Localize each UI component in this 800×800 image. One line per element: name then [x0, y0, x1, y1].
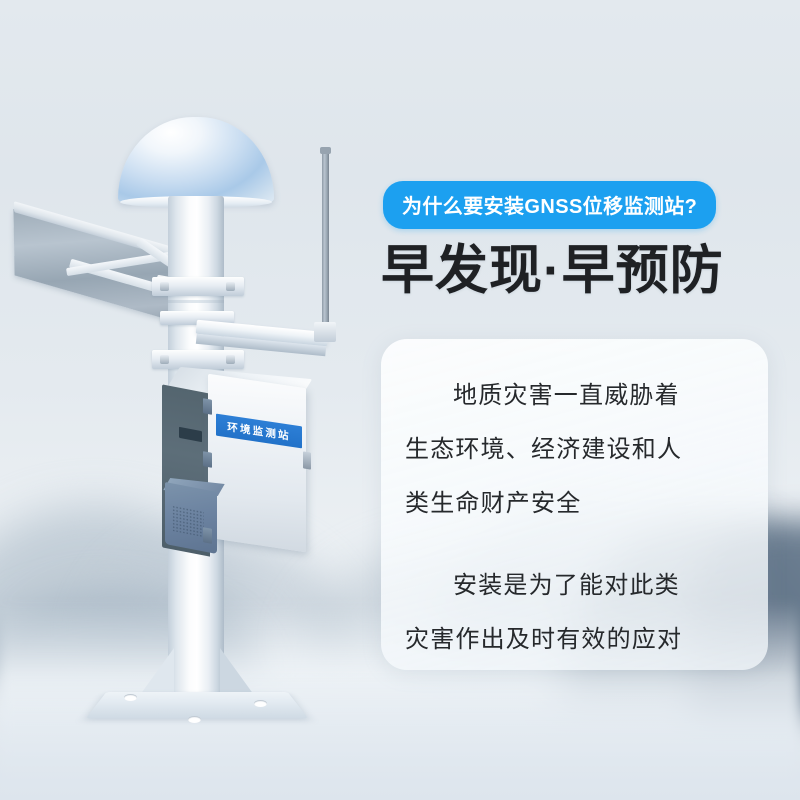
- base-bolt-hole: [254, 700, 267, 707]
- base-bolt-hole: [188, 716, 201, 723]
- clamp-bolt: [160, 282, 169, 291]
- question-badge: 为什么要安装GNSS位移监测站?: [383, 181, 716, 229]
- clamp-bolt: [226, 355, 235, 364]
- cabinet-front-face: [208, 374, 306, 553]
- body-line: 灾害作出及时有效的应对: [405, 613, 744, 667]
- poster-root: 环境监测站 为什么要安装GNSS位移监测站? 早发现·早预防 地质灾害一直威胁着…: [0, 0, 800, 800]
- lightning-rod-cap: [320, 147, 331, 154]
- pole-clamp: [152, 277, 244, 296]
- page-title: 早发现·早预防: [381, 228, 724, 304]
- description-card: 地质灾害一直威胁着 生态环境、经济建设和人 类生命财产安全 安装是为了能对此类 …: [381, 339, 768, 670]
- body-line: 地质灾害一直威胁着: [405, 369, 744, 423]
- paragraph-purpose: 安装是为了能对此类 灾害作出及时有效的应对: [405, 559, 744, 667]
- cabinet-hinge: [203, 451, 212, 468]
- paragraph-threat: 地质灾害一直威胁着 生态环境、经济建设和人 类生命财产安全: [405, 369, 744, 531]
- body-line: 生态环境、经济建设和人: [405, 423, 744, 477]
- rod-mount-clamp: [314, 322, 336, 342]
- base-plate: [86, 692, 309, 719]
- pole-clamp: [152, 350, 244, 369]
- monitoring-station-illustration: 环境监测站: [0, 0, 400, 800]
- cabinet-hinge: [203, 398, 212, 415]
- body-line: 类生命财产安全: [405, 477, 744, 531]
- pole-seam: [168, 300, 224, 303]
- clamp-bolt: [160, 355, 169, 364]
- description-card-body: 地质灾害一直威胁着 生态环境、经济建设和人 类生命财产安全 安装是为了能对此类 …: [381, 339, 768, 670]
- cabinet-latch: [303, 451, 311, 469]
- cabinet-hinge: [203, 527, 212, 544]
- body-line: 安装是为了能对此类: [405, 559, 744, 613]
- clamp-bolt: [226, 282, 235, 291]
- base-bolt-hole: [124, 694, 137, 701]
- gnss-antenna-dome-icon: [118, 117, 274, 203]
- lightning-rod-icon: [322, 150, 329, 336]
